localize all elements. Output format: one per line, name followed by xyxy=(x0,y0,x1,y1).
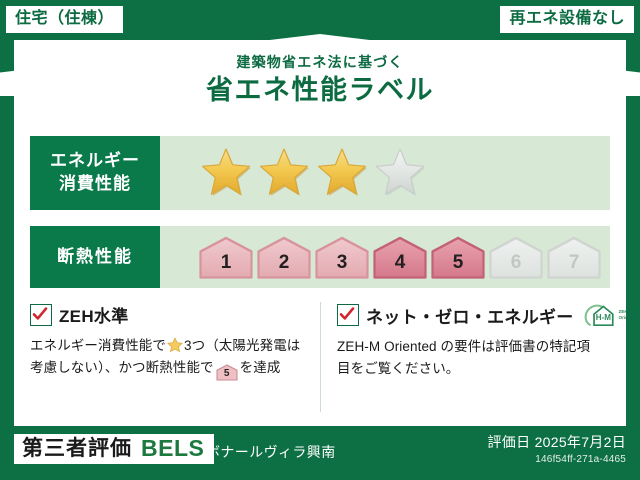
inline-insulation-badge-value: 5 xyxy=(216,364,238,383)
energy-performance-label: 住宅（住棟） 再エネ設備なし 建築物省エネ法に基づく 省エネ性能ラベル エネルギ… xyxy=(0,0,640,480)
insulation-badge-filled: 5 xyxy=(430,235,486,279)
page-title: 省エネ性能ラベル xyxy=(14,74,626,108)
insulation-badge-value: 7 xyxy=(569,253,580,279)
evaluation-date: 評価日 2025年7月2日 xyxy=(487,433,626,451)
row-label-insulation: 断熱性能 xyxy=(30,226,160,288)
insulation-badge-empty: 7 xyxy=(546,235,602,279)
insulation-badge-filled: 1 xyxy=(198,235,254,279)
title-block: 建築物省エネ法に基づく 省エネ性能ラベル xyxy=(14,54,626,108)
star-rating xyxy=(198,146,428,200)
insulation-badge-value: 5 xyxy=(453,253,464,279)
check-icon xyxy=(339,306,355,322)
star-icon-filled xyxy=(314,146,370,200)
note-zeh-text1: エネルギー消費性能で xyxy=(30,338,166,353)
insulation-badge-value: 1 xyxy=(221,253,232,279)
insulation-badge-filled: 2 xyxy=(256,235,312,279)
row-insulation-performance: 断熱性能 1234567 xyxy=(30,226,610,288)
row-label-energy-line2: 消費性能 xyxy=(59,173,131,196)
checkbox-zeh-checked xyxy=(30,304,52,326)
note-zeh-title: ZEH水準 xyxy=(59,302,129,327)
bels-japanese-label: 第三者評価 xyxy=(22,437,132,461)
bels-logo-text: BELS xyxy=(141,436,204,461)
evaluation-info: 評価日 2025年7月2日 146f54ff-271a-4465 xyxy=(487,433,626,465)
evaluation-id: 146f54ff-271a-4465 xyxy=(487,454,626,465)
insulation-badge-value: 4 xyxy=(395,253,406,279)
checkbox-nze-checked xyxy=(337,304,359,326)
inline-insulation-badge: 5 xyxy=(216,364,238,381)
row-value-energy xyxy=(160,136,610,210)
bels-badge: 第三者評価 BELS xyxy=(14,434,214,464)
row-energy-consumption: エネルギー 消費性能 xyxy=(30,136,610,210)
zeh-logo-caption: ZEH-M Oriented xyxy=(619,309,626,320)
zeh-m-oriented-logo: H-M ZEH-M Oriented xyxy=(583,302,626,328)
notes-area: ZEH水準 エネルギー消費性能で3つ（太陽光発電は考慮しない）、かつ断熱性能で5… xyxy=(30,302,610,412)
tag-building-type: 住宅（住棟） xyxy=(6,6,123,33)
star-icon-empty xyxy=(372,146,428,200)
row-label-energy-line1: エネルギー xyxy=(50,150,140,173)
zeh-logo-caption-line2: Oriented xyxy=(619,315,626,320)
note-nze-title: ネット・ゼロ・エネルギー xyxy=(366,303,574,328)
note-net-zero-energy: ネット・ゼロ・エネルギー H-M ZEH-M Oriented ZEH-M xyxy=(320,302,610,412)
note-zeh-text3: を達成 xyxy=(240,360,281,375)
note-zeh-standard: ZEH水準 エネルギー消費性能で3つ（太陽光発電は考慮しない）、かつ断熱性能で5… xyxy=(30,302,320,412)
label-body-panel: 建築物省エネ法に基づく 省エネ性能ラベル エネルギー 消費性能 断熱性能 123… xyxy=(14,40,626,426)
insulation-badge-scale: 1234567 xyxy=(198,235,602,279)
insulation-badge-value: 3 xyxy=(337,253,348,279)
zeh-logo-text: H-M xyxy=(595,313,611,322)
zeh-house-icon: H-M xyxy=(583,302,617,328)
check-icon xyxy=(32,306,48,322)
note-zeh-body: エネルギー消費性能で3つ（太陽光発電は考慮しない）、かつ断熱性能で5を達成 xyxy=(30,335,310,381)
row-label-energy: エネルギー 消費性能 xyxy=(30,136,160,210)
row-label-insulation-text: 断熱性能 xyxy=(57,246,133,269)
insulation-badge-empty: 6 xyxy=(488,235,544,279)
row-value-insulation: 1234567 xyxy=(160,226,610,288)
title-subtitle: 建築物省エネ法に基づく xyxy=(14,54,626,71)
star-icon-filled xyxy=(198,146,254,200)
note-nze-body: ZEH-M Oriented の要件は評価書の特記項目をご覧ください。 xyxy=(337,336,600,380)
insulation-badge-value: 2 xyxy=(279,253,290,279)
note-nze-header: ネット・ゼロ・エネルギー H-M ZEH-M Oriented xyxy=(337,302,600,328)
zeh-logo-caption-line1: ZEH-M xyxy=(619,309,626,314)
note-zeh-header: ZEH水準 xyxy=(30,302,310,327)
star-icon-filled xyxy=(256,146,312,200)
building-name: ボナールヴィラ興南 xyxy=(206,442,336,462)
insulation-badge-filled: 4 xyxy=(372,235,428,279)
tag-renewable-equipment: 再エネ設備なし xyxy=(500,6,634,33)
insulation-badge-value: 6 xyxy=(511,253,522,279)
insulation-badge-filled: 3 xyxy=(314,235,370,279)
label-footer: 第三者評価 BELS ボナールヴィラ興南 評価日 2025年7月2日 146f5… xyxy=(0,426,640,480)
inline-star-icon xyxy=(167,337,183,353)
